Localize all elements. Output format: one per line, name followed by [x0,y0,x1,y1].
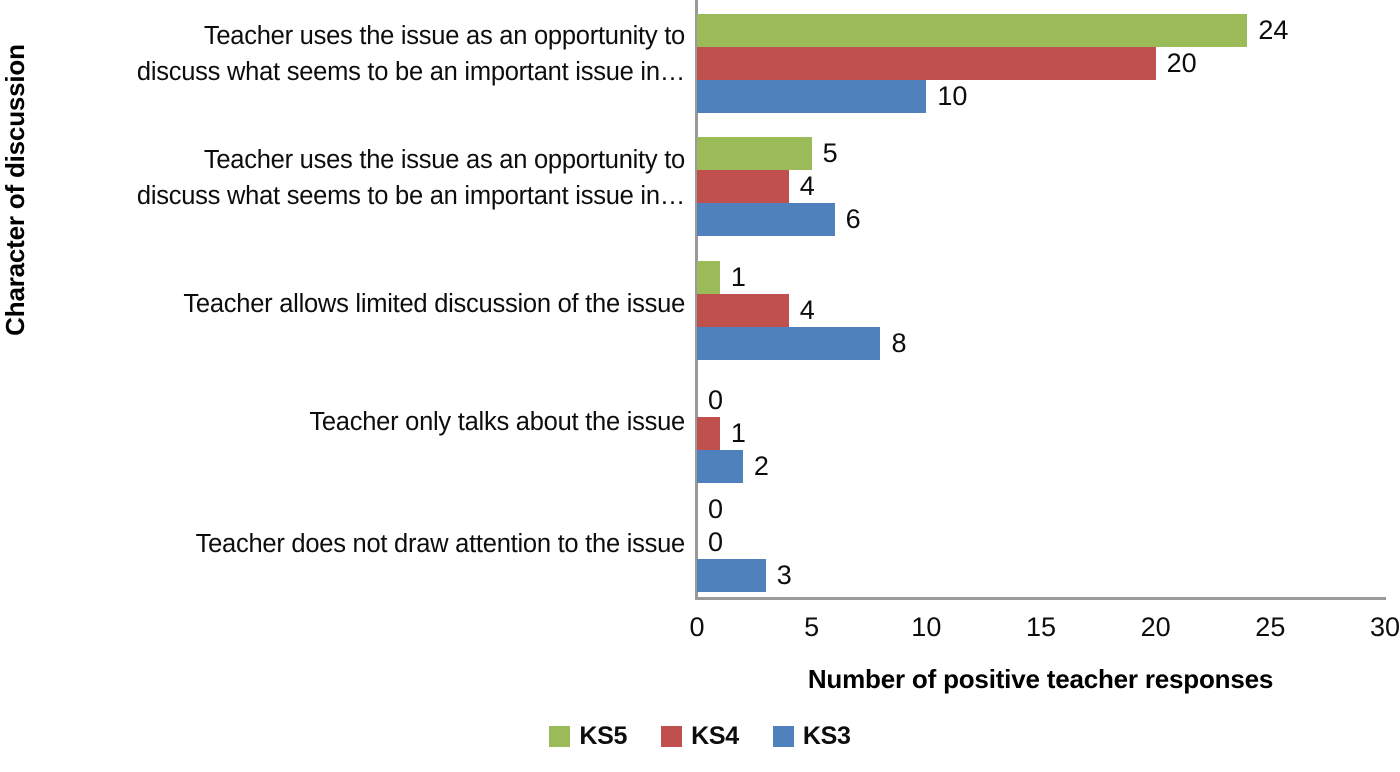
bar-ks5-group1[interactable] [697,14,1247,47]
x-axis-tick-labels: 051015202530 [695,612,1386,652]
bar-value-ks3-group4: 2 [754,450,769,483]
legend-item-ks4[interactable]: KS4 [661,722,739,751]
bar-value-ks5-group4: 0 [708,384,723,417]
plot-area: 242010546148012003 [695,0,1386,598]
bar-ks3-group1[interactable] [697,80,926,113]
bar-value-ks4-group1: 20 [1167,47,1197,80]
category-label-line1: Teacher does not draw attention to the i… [196,530,685,558]
legend-swatch-icon [773,726,794,747]
bar-value-ks4-group4: 1 [731,417,746,450]
bar-ks4-group1[interactable] [697,47,1156,80]
bar-value-ks4-group3: 4 [800,294,815,327]
bar-value-ks5-group1: 24 [1258,14,1288,47]
category-label-line1: Teacher only talks about the issue [309,408,685,436]
category-label-line1: Teacher uses the issue as an opportunity… [204,22,685,50]
x-tick-label: 10 [891,612,961,643]
bar-value-ks5-group2: 5 [823,137,838,170]
x-tick-label: 25 [1235,612,1305,643]
x-axis-line [695,597,1386,600]
x-tick-label: 20 [1121,612,1191,643]
category-label: Teacher uses the issue as an opportunity… [40,18,685,90]
bar-ks3-group3[interactable] [697,327,880,360]
bar-value-ks5-group3: 1 [731,261,746,294]
bar-ks3-group5[interactable] [697,559,766,592]
category-label: Teacher does not draw attention to the i… [40,526,685,562]
category-axis-labels: Teacher uses the issue as an opportunity… [40,0,685,598]
bar-value-ks5-group5: 0 [708,493,723,526]
bar-value-ks4-group5: 0 [708,526,723,559]
y-axis-title: Character of discussion [0,0,40,410]
bar-ks4-group3[interactable] [697,294,789,327]
x-axis-title: Number of positive teacher responses [695,664,1386,695]
bar-ks3-group4[interactable] [697,450,743,483]
legend-item-ks3[interactable]: KS3 [773,722,851,751]
x-tick-label: 15 [1006,612,1076,643]
legend-label: KS3 [803,722,851,751]
category-label-line2: discuss what seems to be an important is… [137,182,685,210]
bar-ks4-group4[interactable] [697,417,720,450]
category-label: Teacher uses the issue as an opportunity… [40,142,685,214]
bar-value-ks3-group1: 10 [937,80,967,113]
chart-legend: KS5KS4KS3 [0,722,1400,751]
x-tick-label: 5 [777,612,847,643]
x-tick-label: 30 [1350,612,1400,643]
bar-value-ks3-group5: 3 [777,559,792,592]
bar-value-ks3-group2: 6 [846,203,861,236]
category-label-line1: Teacher allows limited discussion of the… [183,290,685,318]
bar-ks5-group3[interactable] [697,261,720,294]
category-label: Teacher allows limited discussion of the… [40,286,685,322]
bar-ks4-group2[interactable] [697,170,789,203]
legend-swatch-icon [661,726,682,747]
bar-ks3-group2[interactable] [697,203,835,236]
bar-value-ks3-group3: 8 [891,327,906,360]
category-label: Teacher only talks about the issue [40,404,685,440]
bar-ks5-group2[interactable] [697,137,812,170]
bar-chart: Character of discussion Teacher uses the… [0,0,1400,772]
legend-swatch-icon [549,726,570,747]
category-label-line1: Teacher uses the issue as an opportunity… [204,146,685,174]
legend-label: KS5 [579,722,627,751]
x-tick-label: 0 [662,612,732,643]
bar-value-ks4-group2: 4 [800,170,815,203]
category-label-line2: discuss what seems to be an important is… [137,58,685,86]
legend-item-ks5[interactable]: KS5 [549,722,627,751]
legend-label: KS4 [691,722,739,751]
